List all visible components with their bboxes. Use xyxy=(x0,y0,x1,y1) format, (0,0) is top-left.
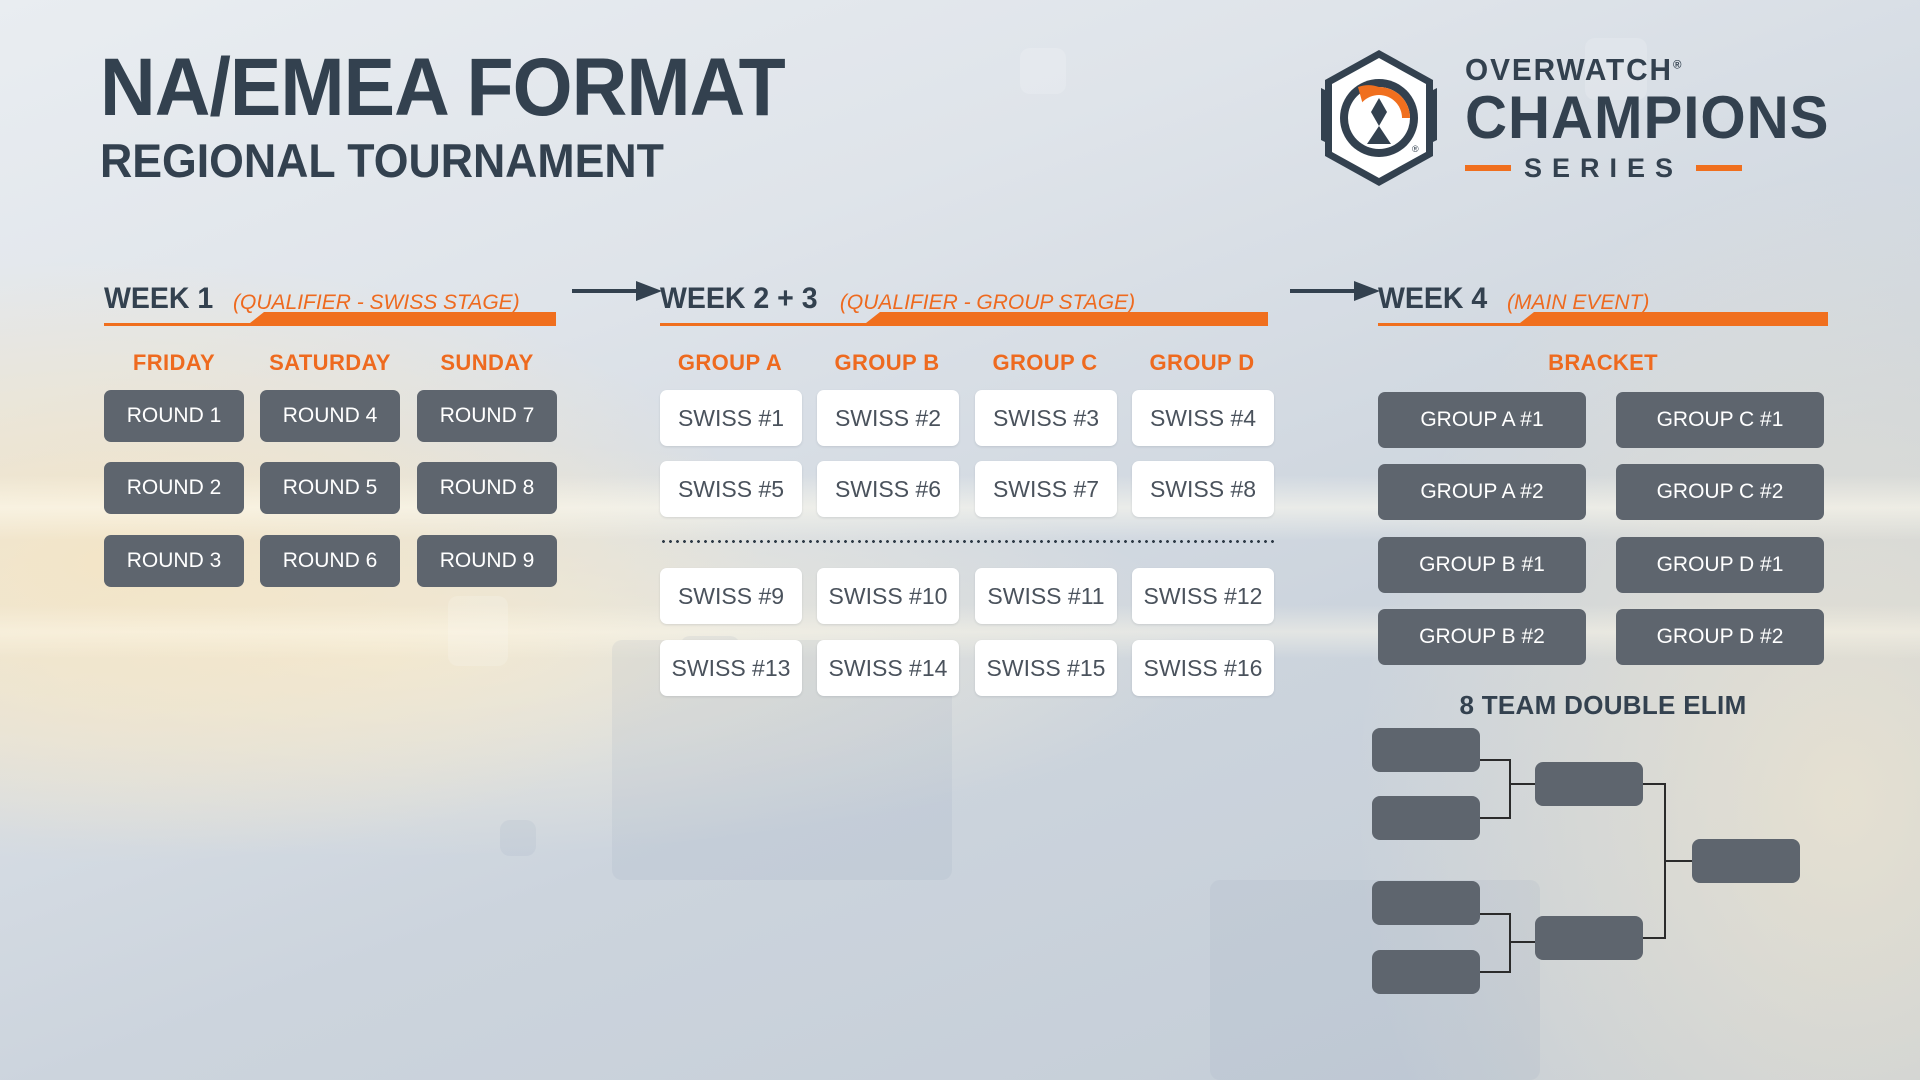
swiss-slot[interactable]: SWISS #5 xyxy=(660,461,802,517)
series-dash-left xyxy=(1465,165,1511,171)
title-block: NA/EMEA FORMAT REGIONAL TOURNAMENT xyxy=(100,48,828,186)
week-1-col-header-saturday: SATURDAY xyxy=(260,350,400,376)
bracket-slot[interactable] xyxy=(1372,950,1480,994)
double-elim-bracket-diagram xyxy=(1370,726,1830,1016)
flow-arrow-2-icon xyxy=(1290,278,1382,304)
group-c-header: GROUP C xyxy=(975,350,1115,376)
bracket-slot[interactable] xyxy=(1535,762,1643,806)
bracket-slot[interactable] xyxy=(1372,881,1480,925)
bracket-section-header: BRACKET xyxy=(1378,350,1828,376)
bracket-seed-box[interactable]: GROUP D #1 xyxy=(1616,537,1824,593)
swiss-slot[interactable]: SWISS #1 xyxy=(660,390,802,446)
group-a-header: GROUP A xyxy=(660,350,800,376)
double-elim-title: 8 TEAM DOUBLE ELIM xyxy=(1378,690,1828,721)
series-row: SERIES xyxy=(1465,155,1841,182)
group-b-header: GROUP B xyxy=(817,350,957,376)
series-wordmark: SERIES xyxy=(1524,155,1683,182)
week-1-col-header-sunday: SUNDAY xyxy=(417,350,557,376)
swiss-slot[interactable]: SWISS #8 xyxy=(1132,461,1274,517)
week-2-3-label: WEEK 2 + 3 xyxy=(660,284,818,314)
round-box[interactable]: ROUND 5 xyxy=(260,462,400,514)
week-2-3-header: WEEK 2 + 3 (QUALIFIER - GROUP STAGE) xyxy=(660,272,1135,314)
flow-arrow-1-icon xyxy=(572,278,664,304)
swiss-slot[interactable]: SWISS #14 xyxy=(817,640,959,696)
week-4-note: (MAIN EVENT) xyxy=(1507,292,1649,314)
overwatch-wordmark: OVERWATCH® xyxy=(1465,54,1826,85)
page-header: NA/EMEA FORMAT REGIONAL TOURNAMENT ® OVE… xyxy=(0,0,1920,215)
bracket-slot[interactable] xyxy=(1372,796,1480,840)
swiss-slot[interactable]: SWISS #15 xyxy=(975,640,1117,696)
bracket-seed-box[interactable]: GROUP C #2 xyxy=(1616,464,1824,520)
round-box[interactable]: ROUND 9 xyxy=(417,535,557,587)
swiss-group-divider xyxy=(660,540,1274,543)
swiss-slot[interactable]: SWISS #16 xyxy=(1132,640,1274,696)
swiss-slot[interactable]: SWISS #7 xyxy=(975,461,1117,517)
week-2-3-note: (QUALIFIER - GROUP STAGE) xyxy=(840,292,1135,314)
bracket-seed-box[interactable]: GROUP B #2 xyxy=(1378,609,1586,665)
round-box[interactable]: ROUND 6 xyxy=(260,535,400,587)
swiss-slot[interactable]: SWISS #11 xyxy=(975,568,1117,624)
svg-text:®: ® xyxy=(1412,144,1419,154)
week-4-header: WEEK 4 (MAIN EVENT) xyxy=(1378,272,1649,314)
week-4-label: WEEK 4 xyxy=(1378,284,1487,314)
swiss-slot[interactable]: SWISS #4 xyxy=(1132,390,1274,446)
bracket-seed-box[interactable]: GROUP B #1 xyxy=(1378,537,1586,593)
week-1-note: (QUALIFIER - SWISS STAGE) xyxy=(233,292,520,314)
owcs-logo-text: OVERWATCH® CHAMPIONS SERIES xyxy=(1465,54,1841,181)
week-4-rule xyxy=(1378,312,1828,334)
round-box[interactable]: ROUND 4 xyxy=(260,390,400,442)
week-1-rule xyxy=(104,312,556,334)
page-title: NA/EMEA FORMAT xyxy=(100,48,785,128)
bracket-slot[interactable] xyxy=(1372,728,1480,772)
round-box[interactable]: ROUND 2 xyxy=(104,462,244,514)
swiss-slot[interactable]: SWISS #10 xyxy=(817,568,959,624)
bracket-seed-box[interactable]: GROUP C #1 xyxy=(1616,392,1824,448)
bracket-slot[interactable] xyxy=(1535,916,1643,960)
round-box[interactable]: ROUND 3 xyxy=(104,535,244,587)
page-subtitle: REGIONAL TOURNAMENT xyxy=(100,136,792,185)
swiss-slot[interactable]: SWISS #12 xyxy=(1132,568,1274,624)
bracket-seed-box[interactable]: GROUP A #2 xyxy=(1378,464,1586,520)
series-dash-right xyxy=(1696,165,1742,171)
week-2-3-rule xyxy=(660,312,1268,334)
group-d-header: GROUP D xyxy=(1132,350,1272,376)
champions-wordmark: CHAMPIONS xyxy=(1465,87,1829,148)
swiss-slot[interactable]: SWISS #9 xyxy=(660,568,802,624)
swiss-slot[interactable]: SWISS #3 xyxy=(975,390,1117,446)
round-box[interactable]: ROUND 7 xyxy=(417,390,557,442)
round-box[interactable]: ROUND 1 xyxy=(104,390,244,442)
owcs-logo: ® OVERWATCH® CHAMPIONS SERIES xyxy=(1315,48,1841,188)
bracket-seed-box[interactable]: GROUP D #2 xyxy=(1616,609,1824,665)
swiss-slot[interactable]: SWISS #13 xyxy=(660,640,802,696)
swiss-slot[interactable]: SWISS #6 xyxy=(817,461,959,517)
week-1-label: WEEK 1 xyxy=(104,284,213,314)
swiss-slot[interactable]: SWISS #2 xyxy=(817,390,959,446)
overwatch-shield-icon: ® xyxy=(1315,48,1443,188)
bracket-seed-box[interactable]: GROUP A #1 xyxy=(1378,392,1586,448)
week-1-col-header-friday: FRIDAY xyxy=(104,350,244,376)
round-box[interactable]: ROUND 8 xyxy=(417,462,557,514)
bracket-slot[interactable] xyxy=(1692,839,1800,883)
week-1-header: WEEK 1 (QUALIFIER - SWISS STAGE) xyxy=(104,272,520,314)
